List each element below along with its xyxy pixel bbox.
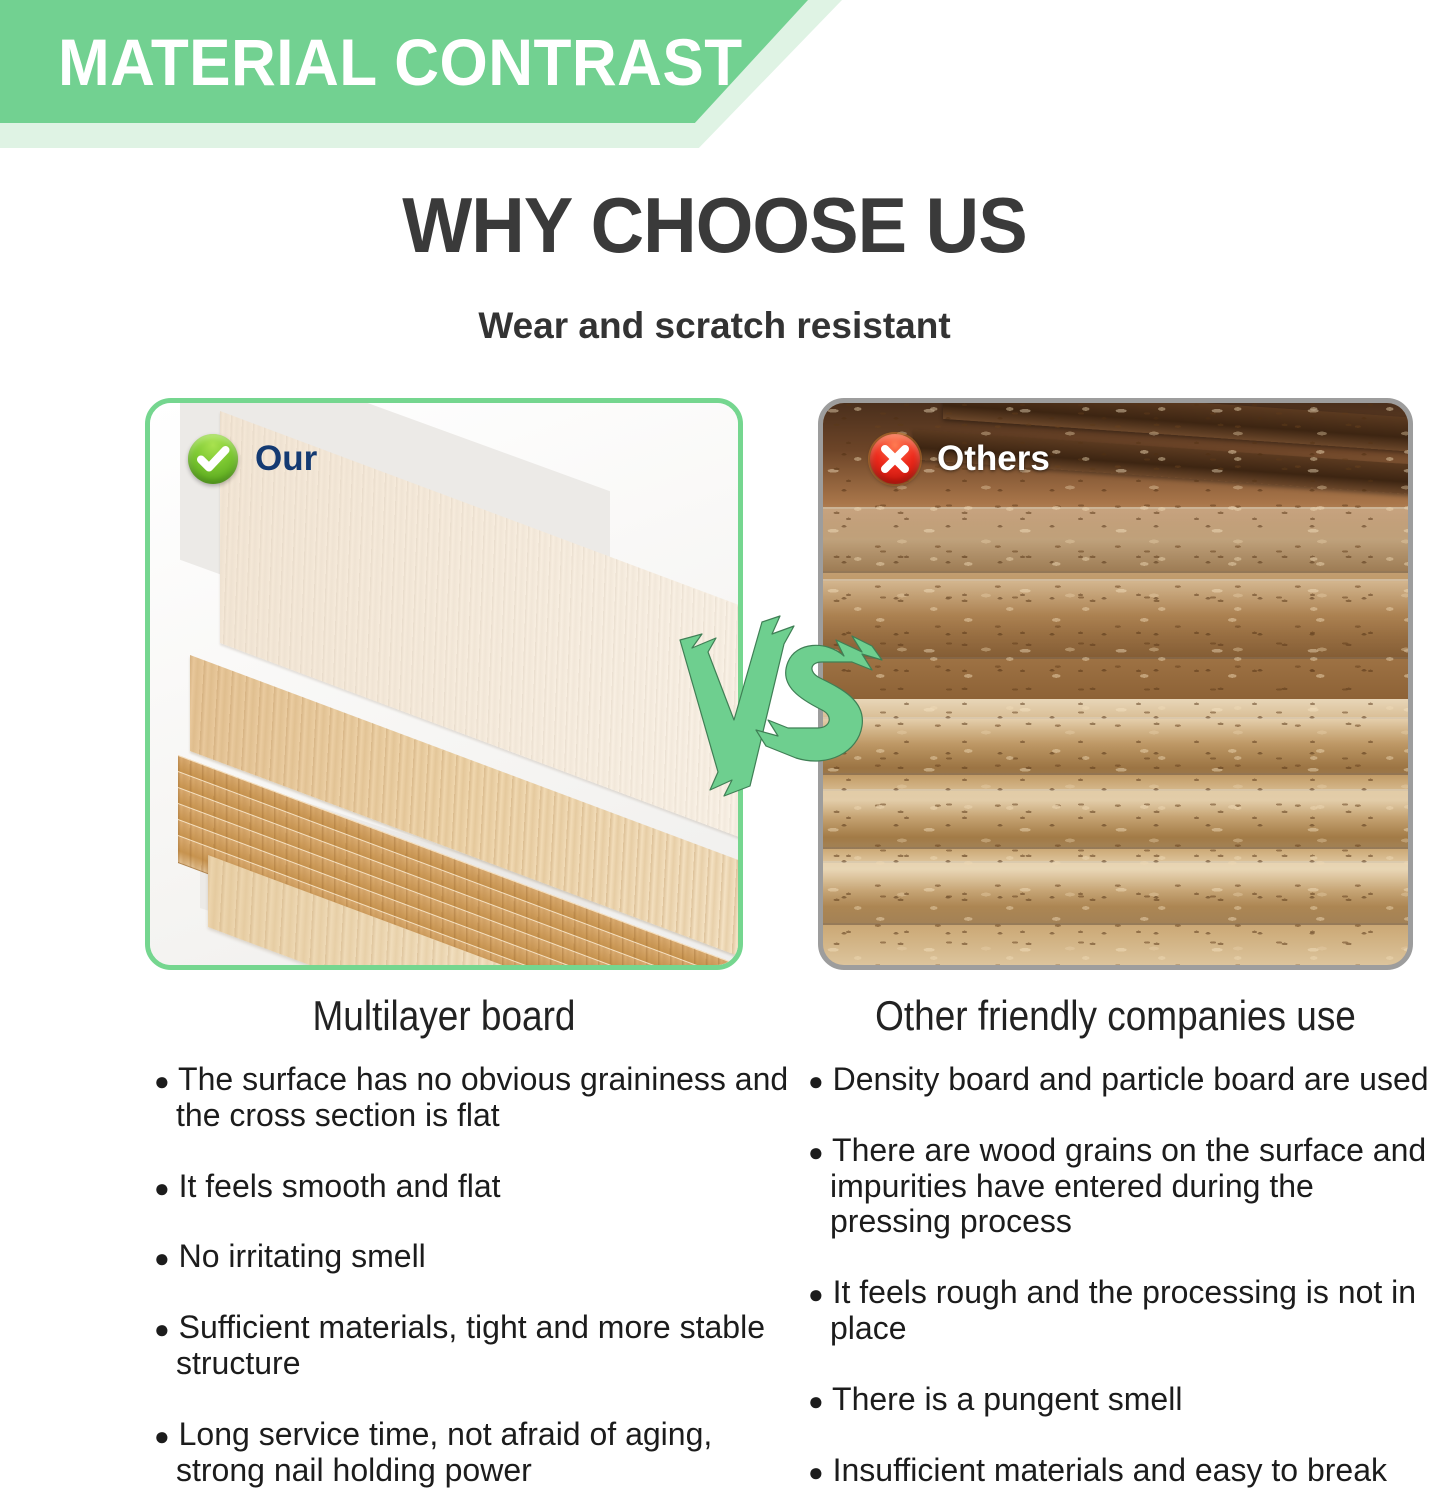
caption-others: Other friendly companies use <box>854 992 1378 1040</box>
bullet-marker-icon: ● <box>154 1243 170 1273</box>
chip-texture <box>823 699 1408 965</box>
feature-list-our: ● The surface has no obvious graininess … <box>140 1062 790 1489</box>
x-circle-icon <box>870 434 920 484</box>
others-badge: Others <box>870 434 1050 484</box>
bullet-marker-icon: ● <box>808 1279 824 1309</box>
list-item: ● Density board and particle board are u… <box>808 1062 1429 1098</box>
header-banner: MATERIAL CONTRAST <box>0 0 860 152</box>
banner-title: MATERIAL CONTRAST <box>58 16 743 108</box>
our-badge-label: Our <box>255 434 317 484</box>
particle-board-photo <box>823 403 1408 965</box>
particle-board-photo-bottom <box>823 699 1408 965</box>
bullet-marker-icon: ● <box>808 1137 824 1167</box>
list-item-text: Insufficient materials and easy to break <box>833 1452 1387 1488</box>
bullet-marker-icon: ● <box>154 1066 170 1096</box>
list-item: ● There is a pungent smell <box>808 1382 1429 1418</box>
feature-list-others: ● Density board and particle board are u… <box>808 1062 1429 1489</box>
multilayer-board-photo <box>150 403 738 965</box>
list-item-text: It feels smooth and flat <box>179 1168 501 1204</box>
list-item-text: Long service time, not afraid of aging, … <box>176 1416 712 1488</box>
our-badge: Our <box>188 434 317 484</box>
list-item-text: No irritating smell <box>179 1238 426 1274</box>
list-item: ● Sufficient materials, tight and more s… <box>140 1310 790 1382</box>
list-item-text: The surface has no obvious graininess an… <box>176 1061 788 1133</box>
list-item: ● It feels rough and the processing is n… <box>808 1275 1429 1347</box>
list-item: ● There are wood grains on the surface a… <box>808 1133 1429 1240</box>
bullet-marker-icon: ● <box>808 1457 824 1487</box>
bullet-marker-icon: ● <box>154 1421 170 1451</box>
page-title: WHY CHOOSE US <box>36 180 1394 271</box>
list-item-text: Sufficient materials, tight and more sta… <box>176 1309 765 1381</box>
list-item-text: There is a pungent smell <box>832 1381 1182 1417</box>
page-subtitle: Wear and scratch resistant <box>0 305 1429 347</box>
list-item: ● Insufficient materials and easy to bre… <box>808 1453 1429 1489</box>
others-badge-label: Others <box>937 434 1050 484</box>
vs-icon <box>676 600 888 805</box>
check-circle-icon <box>188 434 238 484</box>
bullet-marker-icon: ● <box>808 1066 824 1096</box>
list-item-text: It feels rough and the processing is not… <box>830 1274 1416 1346</box>
caption-our: Multilayer board <box>181 992 707 1040</box>
list-item-text: There are wood grains on the surface and… <box>830 1132 1426 1240</box>
bullet-marker-icon: ● <box>154 1314 170 1344</box>
bullet-marker-icon: ● <box>154 1173 170 1203</box>
list-item: ● It feels smooth and flat <box>140 1169 790 1205</box>
list-item-text: Density board and particle board are use… <box>833 1061 1429 1097</box>
bullet-marker-icon: ● <box>808 1386 824 1416</box>
list-item: ● No irritating smell <box>140 1239 790 1275</box>
list-item: ● The surface has no obvious graininess … <box>140 1062 790 1134</box>
list-item: ● Long service time, not afraid of aging… <box>140 1417 790 1489</box>
